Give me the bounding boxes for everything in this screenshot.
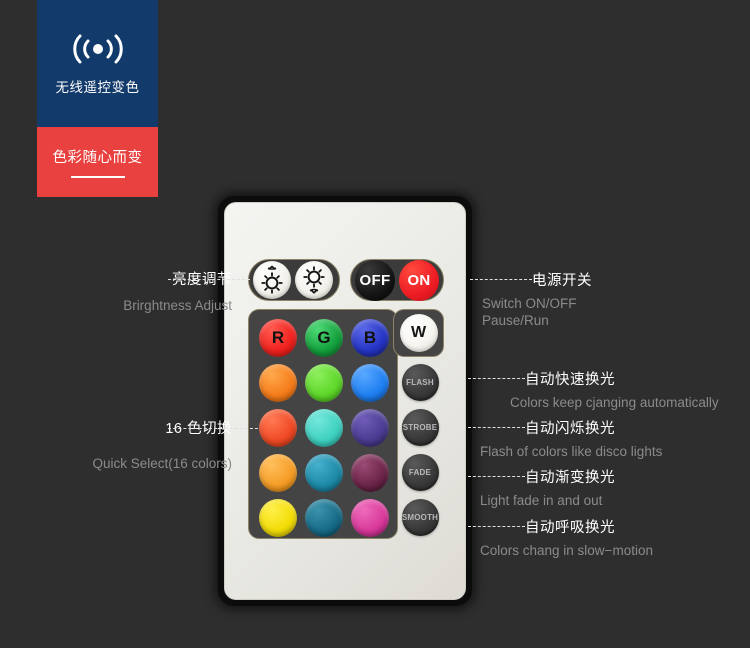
power-off-button[interactable]: OFF bbox=[355, 260, 395, 301]
color-button-g[interactable]: G bbox=[305, 319, 343, 357]
callout-quick-select-en: Quick Select(16 colors) bbox=[36, 456, 232, 471]
sun-down-icon bbox=[301, 265, 327, 295]
color-button-plum[interactable] bbox=[351, 454, 389, 492]
promo-banner-blue-label: 无线遥控变色 bbox=[56, 76, 140, 96]
color-button-b[interactable]: B bbox=[351, 319, 389, 357]
brightness-down-button[interactable] bbox=[295, 261, 333, 299]
remote-control: OFF ON R G B W FLASH STROBE FADE bbox=[224, 202, 466, 600]
brightness-pod bbox=[248, 259, 340, 301]
callout-fade-leader bbox=[468, 476, 525, 477]
color-button-darkteal[interactable] bbox=[305, 499, 343, 537]
color-button-orange[interactable] bbox=[259, 364, 297, 402]
color-button-r[interactable]: R bbox=[259, 319, 297, 357]
power-pod: OFF ON bbox=[350, 259, 444, 301]
wireless-signal-icon bbox=[67, 31, 129, 67]
color-pad: R G B bbox=[248, 309, 398, 539]
mode-button-fade[interactable]: FADE bbox=[402, 454, 439, 491]
callout-smooth-leader bbox=[468, 526, 525, 527]
callout-strobe: 自动闪烁换光 Flash of colors like disco lights bbox=[525, 417, 662, 459]
callout-brightness: 亮度调节 Brirghtness Adjust bbox=[36, 268, 232, 313]
callout-quick-select-leader bbox=[168, 428, 258, 429]
callout-power-en-2: Pause/Run bbox=[482, 313, 592, 328]
color-button-turquoise[interactable] bbox=[305, 409, 343, 447]
mode-button-flash[interactable]: FLASH bbox=[402, 364, 439, 401]
callout-flash-en: Colors keep cjanging automatically bbox=[510, 395, 719, 410]
callout-flash: 自动快速换光 Colors keep cjanging automaticall… bbox=[525, 368, 719, 410]
brightness-up-button[interactable] bbox=[253, 261, 291, 299]
color-button-magenta[interactable] bbox=[351, 499, 389, 537]
callout-power: 电源开关 Switch ON/OFF Pause/Run bbox=[532, 269, 592, 328]
callout-flash-leader bbox=[468, 378, 525, 379]
sun-up-icon bbox=[259, 265, 285, 295]
mode-pad: FLASH STROBE FADE SMOOTH bbox=[395, 361, 445, 539]
callout-power-leader bbox=[470, 279, 532, 280]
mode-button-smooth[interactable]: SMOOTH bbox=[402, 499, 439, 536]
callout-fade-en: Light fade in and out bbox=[480, 493, 615, 508]
callout-fade: 自动渐变换光 Light fade in and out bbox=[525, 466, 615, 508]
callout-power-cn: 电源开关 bbox=[532, 269, 592, 290]
callout-quick-select: 16 色切换 Quick Select(16 colors) bbox=[36, 417, 232, 471]
callout-brightness-leader bbox=[168, 279, 250, 280]
promo-banner-red-label: 色彩随心而变 bbox=[53, 146, 143, 167]
callout-strobe-leader bbox=[468, 427, 525, 428]
callout-fade-cn: 自动渐变换光 bbox=[525, 466, 615, 487]
promo-banner-blue: 无线遥控变色 bbox=[37, 0, 158, 127]
callout-smooth-en: Colors chang in slow−motion bbox=[480, 543, 653, 558]
mode-button-strobe[interactable]: STROBE bbox=[402, 409, 439, 446]
promo-banner-red: 色彩随心而变 bbox=[37, 127, 158, 197]
callout-smooth-cn: 自动呼吸换光 bbox=[525, 516, 653, 537]
color-button-indigo[interactable] bbox=[351, 409, 389, 447]
callout-strobe-en: Flash of colors like disco lights bbox=[480, 444, 662, 459]
banner-divider bbox=[71, 176, 125, 178]
color-button-orangered[interactable] bbox=[259, 409, 297, 447]
callout-flash-cn: 自动快速换光 bbox=[525, 368, 719, 389]
color-button-w[interactable]: W bbox=[400, 314, 438, 352]
color-button-amber[interactable] bbox=[259, 454, 297, 492]
white-pad: W bbox=[393, 309, 444, 357]
color-button-lime[interactable] bbox=[305, 364, 343, 402]
color-button-azure[interactable] bbox=[351, 364, 389, 402]
callout-strobe-cn: 自动闪烁换光 bbox=[525, 417, 662, 438]
callout-power-en-1: Switch ON/OFF bbox=[482, 296, 592, 311]
color-button-yellow[interactable] bbox=[259, 499, 297, 537]
color-grid: R G B bbox=[255, 315, 397, 540]
callout-smooth: 自动呼吸换光 Colors chang in slow−motion bbox=[525, 516, 653, 558]
promo-banner: 无线遥控变色 色彩随心而变 bbox=[37, 0, 158, 197]
power-on-button[interactable]: ON bbox=[399, 260, 439, 301]
callout-brightness-en: Brirghtness Adjust bbox=[36, 298, 232, 313]
color-button-teal[interactable] bbox=[305, 454, 343, 492]
